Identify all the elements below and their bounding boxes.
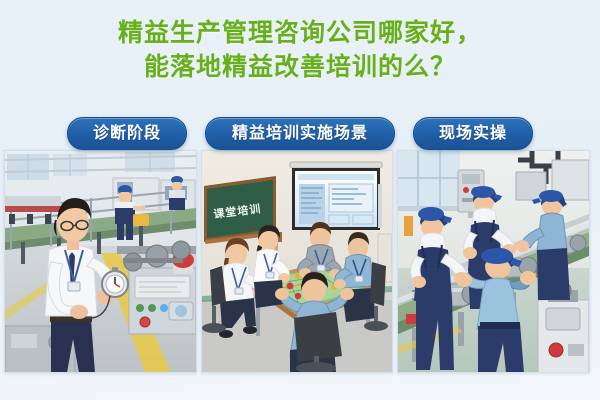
diagnosis-phase-illustration bbox=[5, 151, 196, 372]
lean-training-illustration: 课堂培训 bbox=[202, 151, 392, 372]
onsite-practice-illustration bbox=[398, 151, 589, 372]
page-title: 精益生产管理咨询公司哪家好， 能落地精益改善培训的么？ bbox=[0, 16, 600, 84]
badge-onsite-practice[interactable]: 现场实操 bbox=[413, 117, 533, 150]
page-title-line-1: 精益生产管理咨询公司哪家好， bbox=[0, 16, 600, 50]
badge-lean-training-scene[interactable]: 精益培训实施场景 bbox=[205, 117, 395, 150]
projection-screen bbox=[290, 162, 382, 230]
panel-diagnosis-phase[interactable] bbox=[4, 150, 197, 373]
page-title-line-2: 能落地精益改善培训的么？ bbox=[0, 50, 600, 84]
section-label-row: 诊断阶段 精益培训实施场景 现场实操 bbox=[0, 117, 600, 149]
panel-onsite-practice[interactable] bbox=[397, 150, 590, 373]
foreground-machinery bbox=[117, 241, 196, 334]
background-worker-2 bbox=[169, 176, 185, 210]
poster-root: 精益生产管理咨询公司哪家好， 能落地精益改善培训的么？ 诊断阶段 精益培训实施场… bbox=[0, 0, 600, 400]
badge-diagnosis-phase[interactable]: 诊断阶段 bbox=[67, 117, 187, 150]
panel-row: 课堂培训 bbox=[4, 150, 596, 373]
panel-lean-training-scene[interactable]: 课堂培训 bbox=[201, 150, 393, 373]
